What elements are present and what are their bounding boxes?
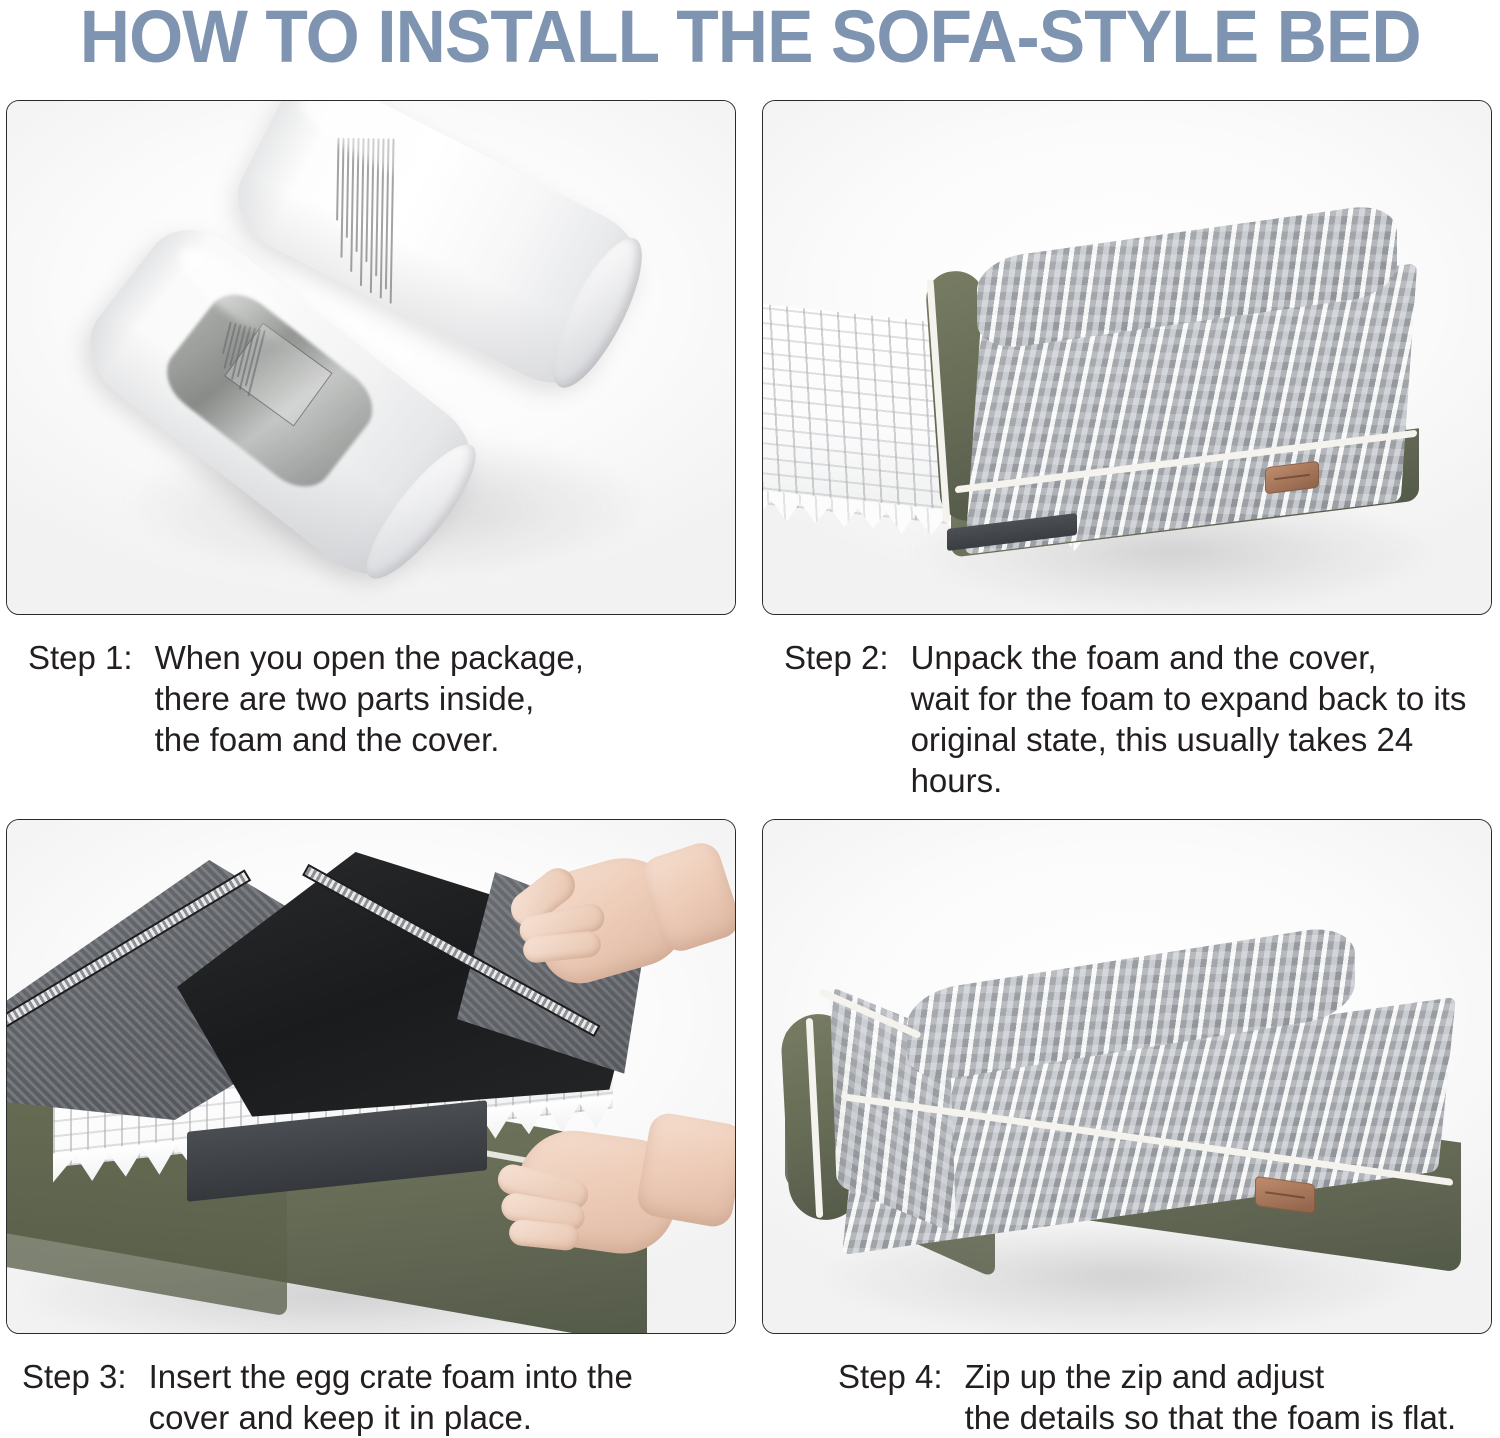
step-2-cell: Step 2: Unpack the foam and the cover, w… xyxy=(762,100,1492,801)
step-1-caption: Step 1: When you open the package, there… xyxy=(6,615,736,760)
step-3-caption: Step 3: Insert the egg crate foam into t… xyxy=(6,1334,736,1438)
step-3-label: Step 3: xyxy=(22,1356,149,1397)
package-rolls-photo xyxy=(7,101,735,614)
step-4-text: Zip up the zip and adjust the details so… xyxy=(965,1356,1457,1438)
step-4-caption: Step 4: Zip up the zip and adjust the de… xyxy=(762,1334,1492,1438)
hand-lower-wrist xyxy=(635,1110,736,1229)
step-2-photo-panel xyxy=(762,100,1492,615)
step-1-label: Step 1: xyxy=(28,637,155,678)
inserting-foam-photo xyxy=(7,820,735,1333)
page-title: HOW TO INSTALL THE SOFA-STYLE BED xyxy=(80,0,1421,74)
foam-and-cover-photo xyxy=(763,101,1491,614)
bed-cover xyxy=(913,209,1423,539)
step-1-text: When you open the package, there are two… xyxy=(155,637,584,760)
steps-row-1: Step 1: When you open the package, there… xyxy=(6,100,1494,801)
finished-bed xyxy=(781,948,1481,1278)
step-3-cell: Step 3: Insert the egg crate foam into t… xyxy=(6,819,736,1438)
step-2-label: Step 2: xyxy=(784,637,911,678)
step-3-text: Insert the egg crate foam into the cover… xyxy=(149,1356,633,1438)
step-2-text: Unpack the foam and the cover, wait for … xyxy=(911,637,1492,801)
step-3-photo-panel xyxy=(6,819,736,1334)
step-4-cell: Step 4: Zip up the zip and adjust the de… xyxy=(762,819,1492,1438)
finished-bed-photo xyxy=(763,820,1491,1333)
hand-lower xyxy=(473,1112,733,1282)
steps-row-2: Step 3: Insert the egg crate foam into t… xyxy=(6,819,1494,1438)
step-1-photo-panel xyxy=(6,100,736,615)
steps-grid: Step 1: When you open the package, there… xyxy=(0,100,1500,1438)
step-1-cell: Step 1: When you open the package, there… xyxy=(6,100,736,801)
step-2-caption: Step 2: Unpack the foam and the cover, w… xyxy=(762,615,1492,801)
hand-upper xyxy=(483,844,713,1004)
step-4-photo-panel xyxy=(762,819,1492,1334)
header: HOW TO INSTALL THE SOFA-STYLE BED xyxy=(0,0,1500,100)
step-4-label: Step 4: xyxy=(838,1356,965,1397)
